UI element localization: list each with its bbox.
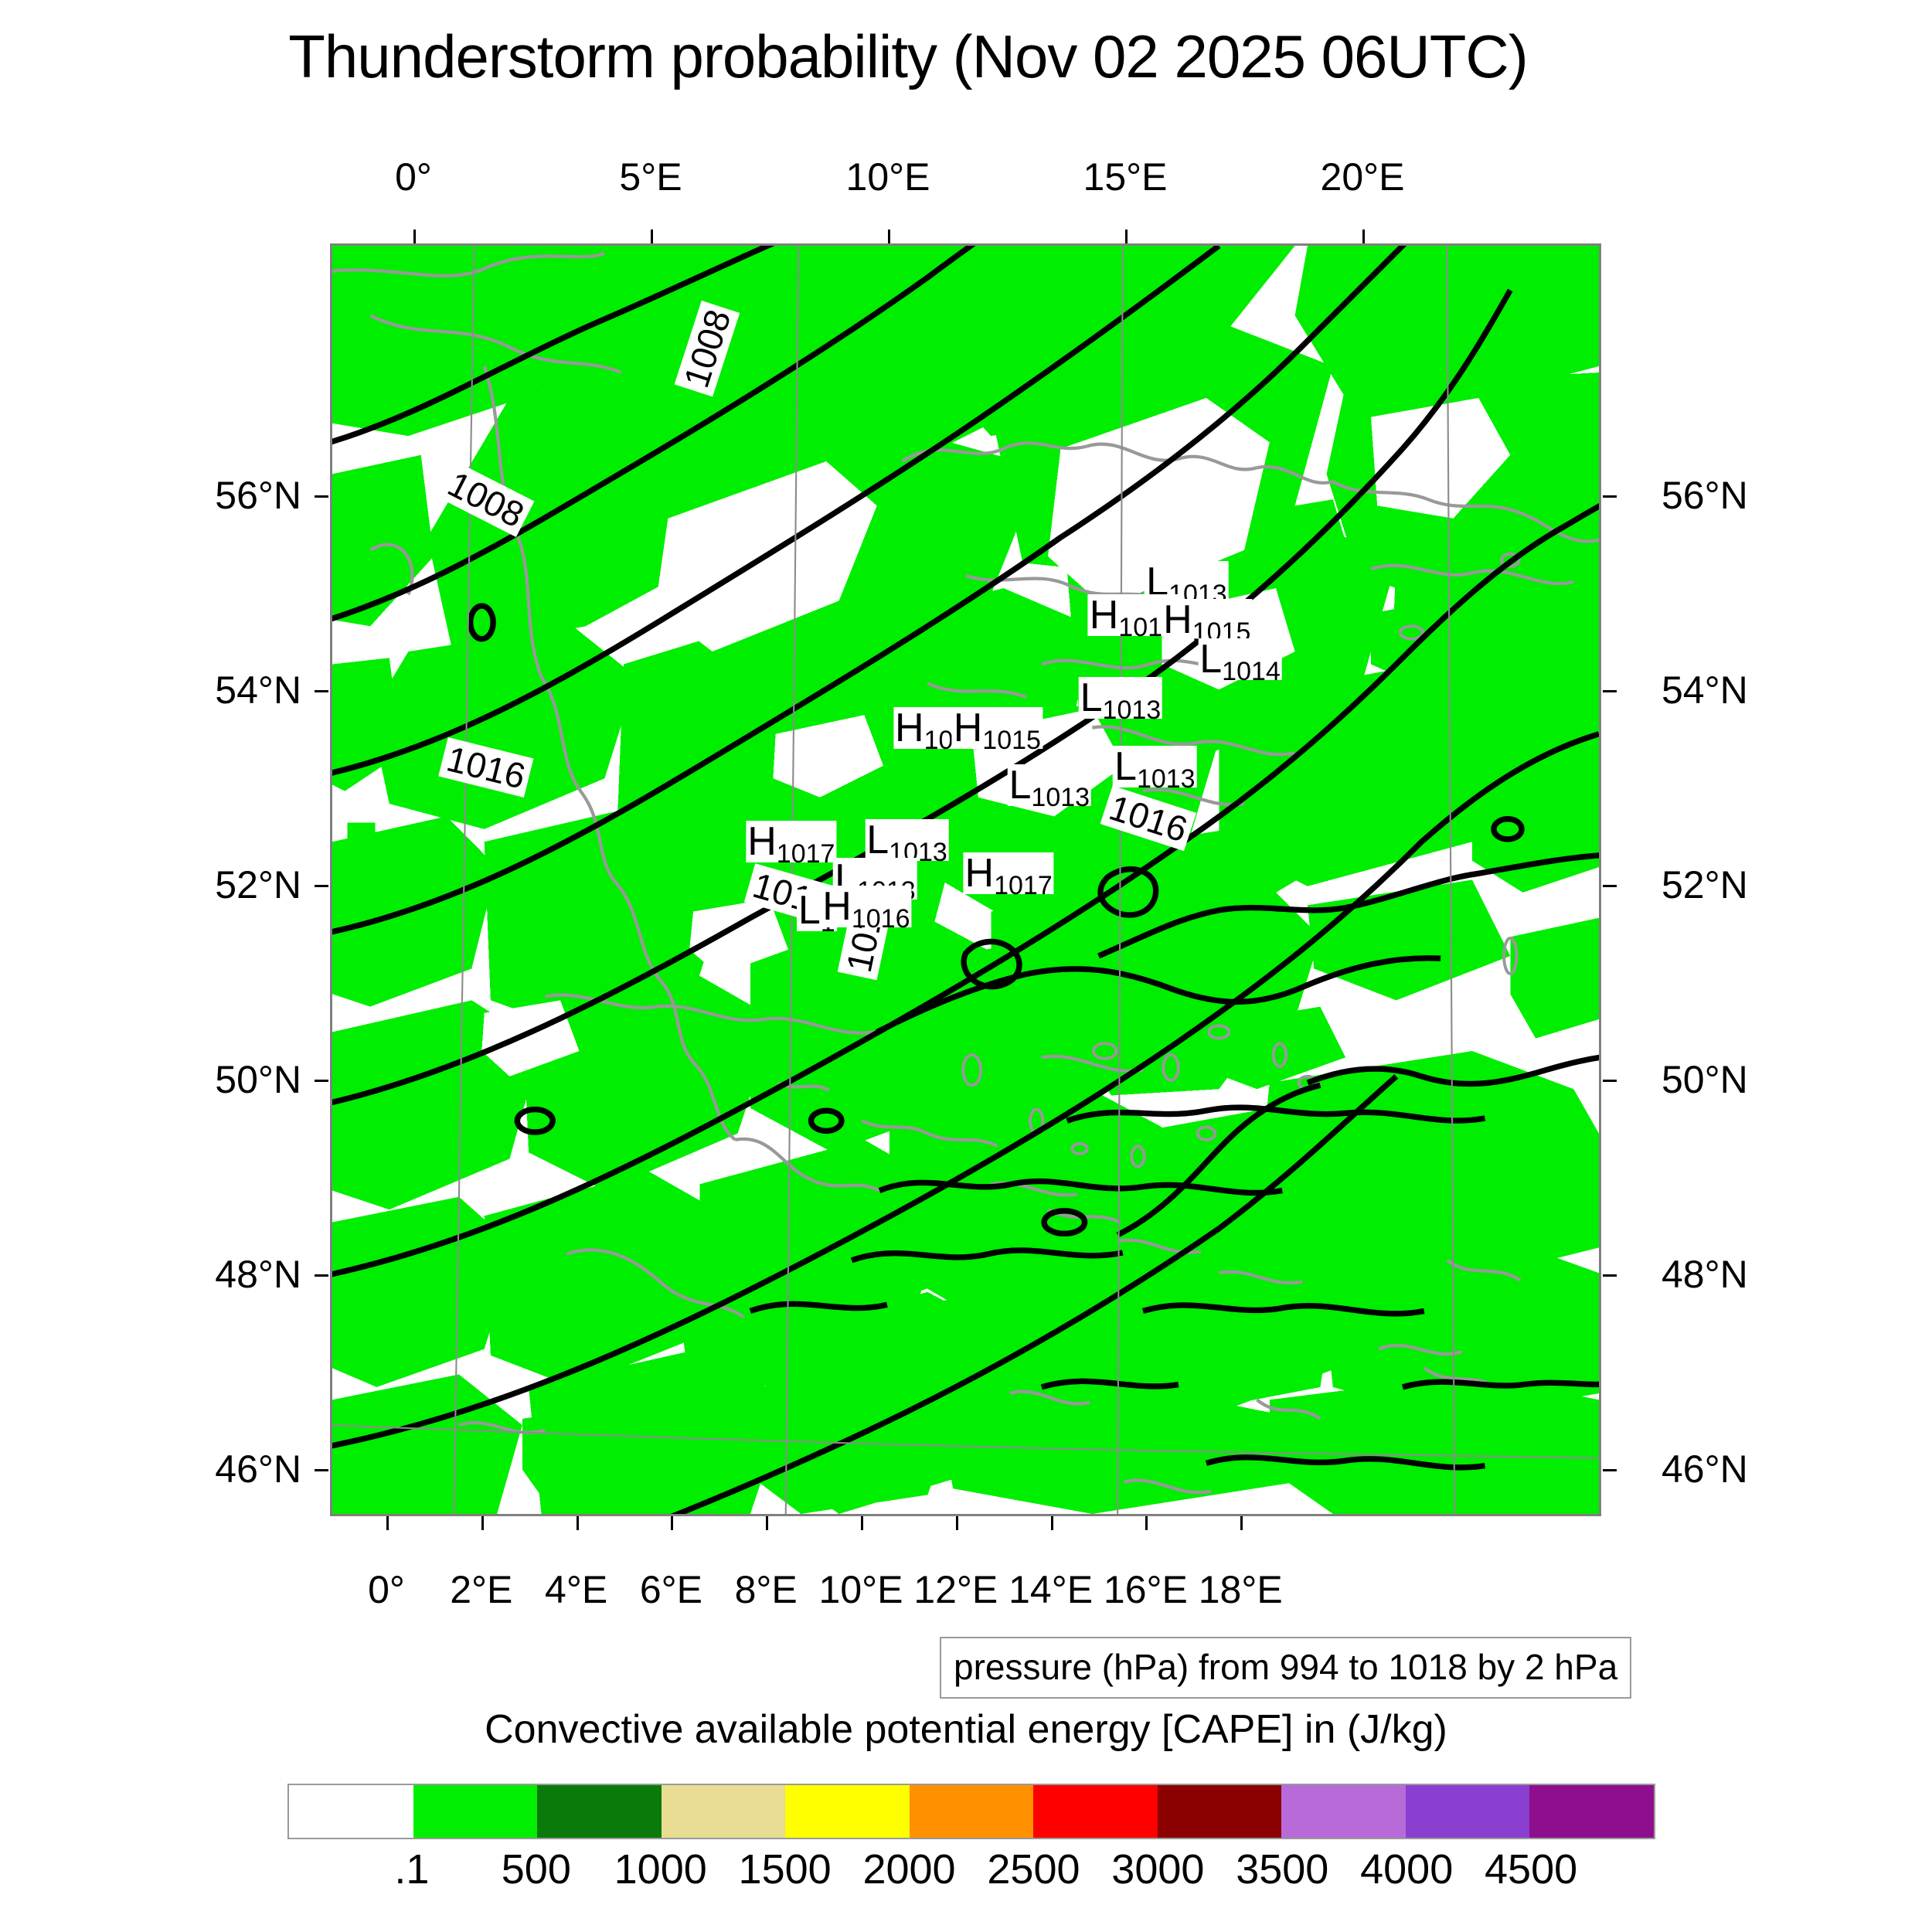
axis-bottom-tick-1: 2°E <box>450 1567 512 1612</box>
pressure-center-value: 1017 <box>994 871 1053 900</box>
pressure-center-type: H <box>1163 597 1192 642</box>
colorbar-swatch-6[interactable] <box>1033 1785 1158 1838</box>
colorbar-tick-3: 1500 <box>739 1845 832 1893</box>
axis-bottom-tick-9: 18°E <box>1199 1567 1283 1612</box>
axis-bottom-tickmark-7 <box>1051 1516 1053 1530</box>
pressure-center-type: H <box>822 884 852 929</box>
colorbar-swatch-8[interactable] <box>1281 1785 1406 1838</box>
axis-top-tickmark-2 <box>888 230 890 243</box>
axis-right-tickmark-2 <box>1603 885 1617 887</box>
axis-top-tick-0: 0° <box>395 155 432 199</box>
axis-left-tickmark-1 <box>315 690 328 692</box>
axis-bottom-tick-5: 10°E <box>819 1567 903 1612</box>
colorbar-tick-0: .1 <box>394 1845 429 1893</box>
pressure-center-type: L <box>1009 763 1031 808</box>
pressure-center-type: L <box>1114 744 1137 789</box>
axis-right-tick-5: 46°N <box>1662 1447 1748 1492</box>
axis-left-tick-3: 50°N <box>185 1057 301 1102</box>
axis-bottom-tick-4: 8°E <box>735 1567 798 1612</box>
colorbar-tick-7: 3500 <box>1236 1845 1328 1893</box>
axis-bottom-tickmark-4 <box>766 1516 768 1530</box>
colorbar-swatch-3[interactable] <box>662 1785 786 1838</box>
axis-bottom-tickmark-6 <box>956 1516 958 1530</box>
axis-right-tickmark-3 <box>1603 1080 1617 1082</box>
colorbar-swatch-4[interactable] <box>785 1785 910 1838</box>
pressure-center-value: 1013 <box>1031 783 1090 812</box>
pressure-center-l: L1013 <box>1113 746 1197 787</box>
pressure-center-l: L1013 <box>1007 764 1091 806</box>
axis-right-tick-0: 56°N <box>1662 473 1748 518</box>
axis-bottom-tickmark-0 <box>386 1516 389 1530</box>
axis-top-tickmark-1 <box>651 230 653 243</box>
axis-bottom-tickmark-2 <box>577 1516 579 1530</box>
axis-top-tick-1: 5°E <box>619 155 682 199</box>
axis-left-tick-1: 54°N <box>185 668 301 713</box>
axis-right-tickmark-0 <box>1603 495 1617 498</box>
colorbar-tick-9: 4500 <box>1485 1845 1577 1893</box>
pressure-center-type: H <box>747 819 777 864</box>
pressure-center-value: 1014 <box>1222 657 1281 686</box>
colorbar-swatch-0[interactable] <box>289 1785 413 1838</box>
axis-left-tickmark-2 <box>315 885 328 887</box>
pressure-center-value: 1013 <box>1137 764 1196 794</box>
pressure-center-type: L <box>1199 637 1222 682</box>
axis-bottom-tick-7: 14°E <box>1009 1567 1093 1612</box>
pressure-center-h: H1015 <box>952 707 1043 749</box>
axis-top-tickmark-4 <box>1362 230 1365 243</box>
pressure-center-h: H1017 <box>746 821 836 862</box>
axis-left-tickmark-4 <box>315 1274 328 1277</box>
axis-bottom-tickmark-9 <box>1240 1516 1243 1530</box>
pressure-center-l: L1014 <box>1198 638 1282 680</box>
pressure-center-l: L1013 <box>865 819 949 861</box>
pressure-center-type: H <box>895 706 924 750</box>
colorbar-tick-6: 3000 <box>1111 1845 1204 1893</box>
axis-left-tick-2: 52°N <box>185 862 301 907</box>
pressure-center-type: H <box>1090 593 1119 638</box>
pressure-center-value: 1015 <box>982 726 1041 755</box>
colorbar-tick-1: 500 <box>502 1845 571 1893</box>
colorbar-tick-5: 2500 <box>987 1845 1080 1893</box>
axis-bottom-tickmark-8 <box>1145 1516 1148 1530</box>
axis-bottom-tick-2: 4°E <box>545 1567 607 1612</box>
axis-bottom-tick-3: 6°E <box>640 1567 702 1612</box>
page-title: Thunderstorm probability (Nov 02 2025 06… <box>0 22 1816 92</box>
colorbar-tick-2: 1000 <box>614 1845 707 1893</box>
axis-bottom-tick-6: 12°E <box>913 1567 998 1612</box>
axis-bottom-tick-8: 16°E <box>1104 1567 1188 1612</box>
axis-right-tickmark-1 <box>1603 690 1617 692</box>
pressure-center-type: L <box>798 888 821 933</box>
pressure-center-value: 1017 <box>777 839 835 869</box>
colorbar-swatch-9[interactable] <box>1406 1785 1530 1838</box>
colorbar-caption: Convective available potential energy [C… <box>0 1706 1932 1753</box>
axis-right-tick-2: 52°N <box>1662 862 1748 907</box>
axis-left-tickmark-3 <box>315 1080 328 1082</box>
axis-right-tick-3: 50°N <box>1662 1057 1748 1102</box>
pressure-center-type: L <box>866 818 889 862</box>
axis-left-tickmark-5 <box>315 1469 328 1471</box>
colorbar-swatch-1[interactable] <box>413 1785 538 1838</box>
axis-top-tick-2: 10°E <box>846 155 930 199</box>
axis-right-tickmark-4 <box>1603 1274 1617 1277</box>
colorbar-tick-labels: .150010001500200025003000350040004500 <box>287 1845 1655 1900</box>
axis-left-tickmark-0 <box>315 495 328 498</box>
axis-bottom-tick-0: 0° <box>368 1567 405 1612</box>
pressure-center-h: H1016 <box>821 886 911 927</box>
colorbar-swatch-2[interactable] <box>537 1785 662 1838</box>
colorbar-swatch-10[interactable] <box>1529 1785 1654 1838</box>
map-plot-area[interactable]: 100810081016101610161016 L1013H1015H1015… <box>330 243 1601 1516</box>
pressure-center-l: L1013 <box>1079 677 1163 719</box>
pressure-center-value: 1016 <box>852 904 910 934</box>
colorbar[interactable] <box>287 1784 1655 1839</box>
axis-right-tick-4: 48°N <box>1662 1252 1748 1297</box>
pressure-center-h: H1017 <box>964 852 1054 894</box>
axis-top-tick-4: 20°E <box>1321 155 1405 199</box>
axis-top-tickmark-3 <box>1125 230 1128 243</box>
pressure-center-type: H <box>954 706 983 750</box>
axis-bottom-tickmark-1 <box>481 1516 484 1530</box>
pressure-center-type: L <box>1080 675 1103 720</box>
pressure-note: pressure (hPa) from 994 to 1018 by 2 hPa <box>940 1637 1631 1699</box>
pressure-center-type: H <box>965 851 995 896</box>
axis-top-tick-3: 15°E <box>1083 155 1168 199</box>
colorbar-tick-8: 4000 <box>1360 1845 1453 1893</box>
axis-left-tick-0: 56°N <box>185 473 301 518</box>
axis-right-tick-1: 54°N <box>1662 668 1748 713</box>
axis-bottom-tickmark-3 <box>671 1516 673 1530</box>
colorbar-swatch-5[interactable] <box>910 1785 1034 1838</box>
colorbar-swatch-7[interactable] <box>1158 1785 1282 1838</box>
pressure-center-value: 1013 <box>1103 696 1162 725</box>
colorbar-tick-4: 2000 <box>862 1845 955 1893</box>
pressure-center-h: H1015 <box>1162 599 1252 641</box>
axis-left-tick-5: 46°N <box>185 1447 301 1492</box>
axis-bottom-tickmark-5 <box>861 1516 863 1530</box>
axis-top-tickmark-0 <box>413 230 416 243</box>
axis-right-tickmark-5 <box>1603 1469 1617 1471</box>
axis-left-tick-4: 48°N <box>185 1252 301 1297</box>
